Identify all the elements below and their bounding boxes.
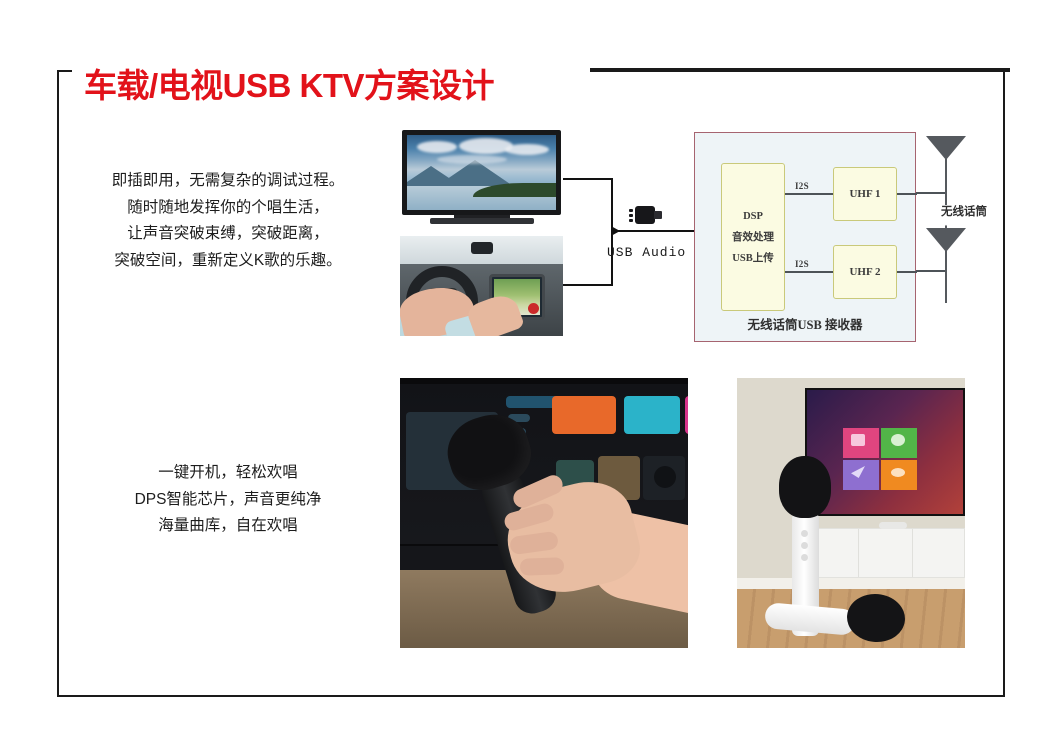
wire-from-car — [563, 284, 613, 286]
antenna-wire-2 — [916, 270, 946, 272]
usb-plug-body — [635, 206, 655, 224]
microphone-button-2 — [801, 542, 808, 549]
wire-arrowhead — [611, 226, 620, 236]
tile-chat-icon — [891, 434, 905, 446]
tv-screen — [407, 135, 556, 210]
uhf1-block: UHF 1 — [833, 167, 897, 221]
usb-audio-label: USB Audio — [607, 245, 686, 260]
flat-screen-tv-photo — [400, 128, 563, 228]
bus-line-1 — [785, 193, 833, 195]
card-thumb-vinyl — [654, 466, 676, 488]
tv-cabinet — [805, 528, 965, 578]
antenna-feed-1 — [897, 193, 917, 195]
title-underline-rule — [590, 68, 1010, 72]
antenna-1-icon — [926, 136, 966, 160]
car-screen-record-button — [528, 303, 539, 314]
antenna-feed-2 — [897, 271, 917, 273]
tv-wallpaper-cloud-3 — [505, 144, 549, 155]
car-rearview-mirror — [471, 242, 493, 254]
dsp-label-line1: DSP — [743, 206, 763, 227]
dsp-label-line3: USB上传 — [732, 248, 773, 269]
car-interior-photo — [400, 236, 563, 336]
diagram-caption: 无线话筒USB 接收器 — [695, 314, 915, 333]
feature-paragraph-bottom: 一键开机，轻松欢唱 DPS智能芯片，声音更纯净 海量曲库，自在欢唱 — [68, 460, 388, 540]
tile-music-icon — [851, 434, 865, 446]
tv-wallpaper-cloud-4 — [437, 155, 507, 164]
dsp-block: DSP 音效处理 USB上传 — [721, 163, 785, 311]
tv-bezel — [402, 130, 561, 215]
finger-pinky — [520, 557, 565, 576]
tv-stand-foot — [430, 218, 534, 224]
antenna-label: 无线话筒 — [941, 203, 987, 219]
microphone-in-car-photo — [400, 378, 688, 648]
wall-skirting — [737, 578, 965, 589]
card-orange — [552, 396, 616, 434]
card-magenta — [685, 396, 688, 434]
bus-line-2 — [785, 271, 833, 273]
antenna-2-icon — [926, 228, 966, 252]
usb-plug-tip — [654, 211, 662, 219]
dsp-label-line2: 音效处理 — [732, 227, 774, 248]
usb-plug-pin-1 — [629, 209, 633, 212]
tv-wallpaper-cloud-1 — [417, 141, 457, 153]
wire-usb-audio — [611, 230, 695, 232]
usb-plug-icon — [626, 205, 662, 225]
usb-plug-pin-3 — [629, 219, 633, 222]
microphone-button-1 — [801, 530, 808, 537]
wire-from-tv — [563, 178, 613, 180]
cabinet-divider-1 — [858, 529, 859, 577]
antenna-2-stem — [945, 251, 947, 303]
bus-label-2: I2S — [795, 259, 809, 269]
tile-view-icon — [891, 468, 905, 477]
receiver-block-diagram: DSP 音效处理 USB上传 UHF 1 UHF 2 I2S I2S 无线话筒U… — [694, 132, 916, 342]
bus-label-1: I2S — [795, 181, 809, 191]
tile-send — [843, 460, 879, 490]
antenna-1-triangle — [926, 136, 966, 160]
remote-control — [879, 522, 907, 529]
tv-wallpaper-cloud-2 — [459, 138, 513, 154]
usb-plug-pin-2 — [629, 214, 633, 217]
feature-paragraph-top: 即插即用，无需复杂的调试过程。 随时随地发挥你的个唱生活， 让声音突破束缚，突破… — [68, 168, 388, 275]
antenna-2-triangle — [926, 228, 966, 252]
microphones-with-tv-photo — [737, 378, 965, 648]
microphone-standing-foam-head — [779, 456, 831, 518]
uhf2-block: UHF 2 — [833, 245, 897, 299]
page-title: 车载/电视USB KTV方案设计 — [84, 66, 504, 106]
antenna-wire-1 — [916, 192, 946, 194]
cabinet-divider-2 — [912, 529, 913, 577]
microphone-button-3 — [801, 554, 808, 561]
antenna-1-triangle-inner — [928, 113, 964, 134]
card-cyan — [624, 396, 680, 434]
